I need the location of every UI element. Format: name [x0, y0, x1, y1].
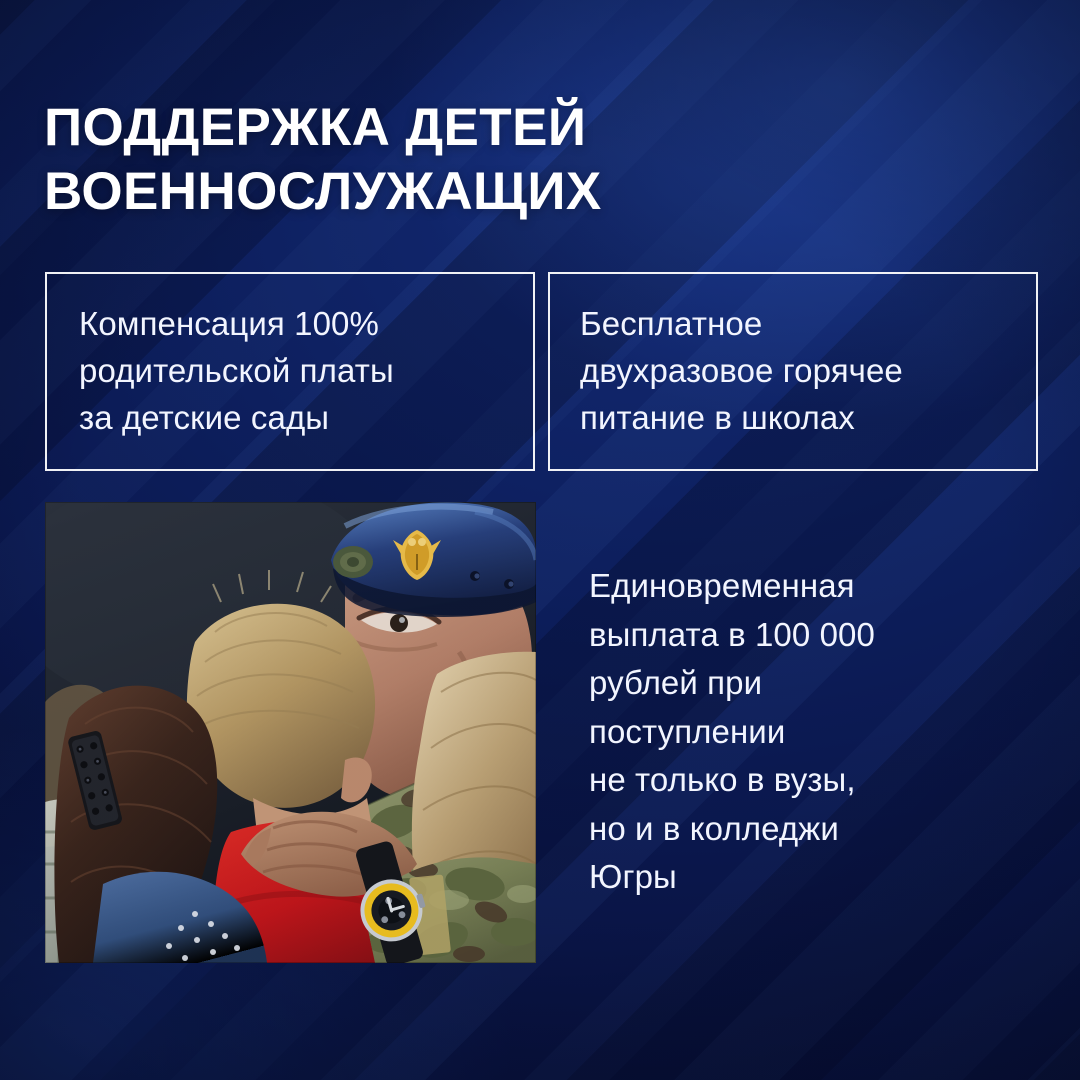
page-title: ПОДДЕРЖКА ДЕТЕЙ ВОЕННОСЛУЖАЩИХ: [44, 96, 864, 224]
lump-sum-payment-note: Единовременная выплата в 100 000 рублей …: [589, 562, 1009, 902]
benefit-card-school-meals-text: Бесплатное двухразовое горячее питание в…: [550, 301, 903, 442]
benefit-card-school-meals: Бесплатное двухразовое горячее питание в…: [548, 272, 1038, 471]
benefit-card-kindergarten: Компенсация 100% родительской платы за д…: [45, 272, 535, 471]
photo-illustration: [45, 502, 536, 963]
benefit-card-kindergarten-text: Компенсация 100% родительской платы за д…: [47, 301, 394, 442]
benefit-cards: Компенсация 100% родительской платы за д…: [45, 272, 1038, 471]
family-photo: [45, 502, 536, 963]
poster-root: ПОДДЕРЖКА ДЕТЕЙ ВОЕННОСЛУЖАЩИХ Компенсац…: [0, 0, 1080, 1080]
